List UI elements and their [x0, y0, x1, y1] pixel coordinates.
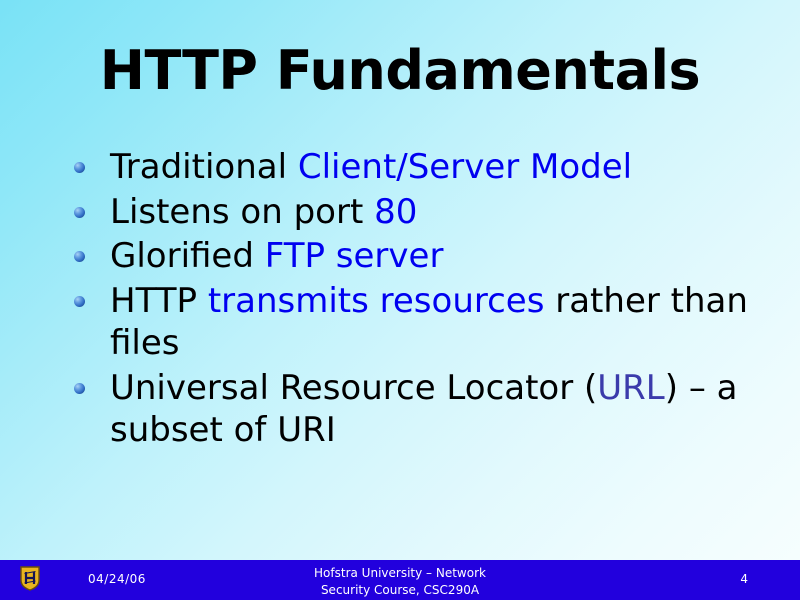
slide-title: HTTP Fundamentals	[0, 44, 800, 98]
bullet-text-run: Traditional	[110, 147, 298, 187]
footer-course-line-1: Hofstra University – Network	[0, 565, 800, 582]
presentation-slide: HTTP Fundamentals Traditional Client/Ser…	[0, 0, 800, 600]
bullet-text-run-highlight: URL	[597, 368, 664, 408]
bullet-text-run-highlight: transmits resources	[208, 281, 545, 321]
bullet-text-run-highlight: 80	[374, 192, 417, 232]
bullet-text-run-highlight: FTP server	[265, 236, 444, 276]
bullet-sphere-icon	[74, 383, 85, 394]
bullet-item-url-uri: Universal Resource Locator (URL) – a sub…	[64, 367, 754, 452]
bullet-sphere-icon	[74, 296, 85, 307]
bullet-text-run: Universal Resource Locator (	[110, 368, 597, 408]
footer-course-label: Hofstra University – Network Security Co…	[0, 565, 800, 600]
bullet-text-run: HTTP	[110, 281, 208, 321]
bullet-item-client-server: Traditional Client/Server Model	[64, 146, 754, 189]
bullet-sphere-icon	[74, 162, 85, 173]
bullet-item-port-80: Listens on port 80	[64, 191, 754, 234]
bullet-text-run: Listens on port	[110, 192, 374, 232]
bullet-text-run-highlight: Client/Server Model	[298, 147, 632, 187]
footer-course-line-2: Security Course, CSC290A	[0, 582, 800, 599]
bullet-sphere-icon	[74, 207, 85, 218]
bullet-sphere-icon	[74, 251, 85, 262]
footer-page-number: 4	[740, 572, 748, 586]
bullet-text-run: Glorified	[110, 236, 265, 276]
slide-footer-bar: 04/24/06 Hofstra University – Network Se…	[0, 560, 800, 600]
bullet-item-transmits-resources: HTTP transmits resources rather than fil…	[64, 280, 754, 365]
bullet-item-ftp-server: Glorified FTP server	[64, 235, 754, 278]
slide-body-bullet-list: Traditional Client/Server Model Listens …	[64, 146, 754, 454]
